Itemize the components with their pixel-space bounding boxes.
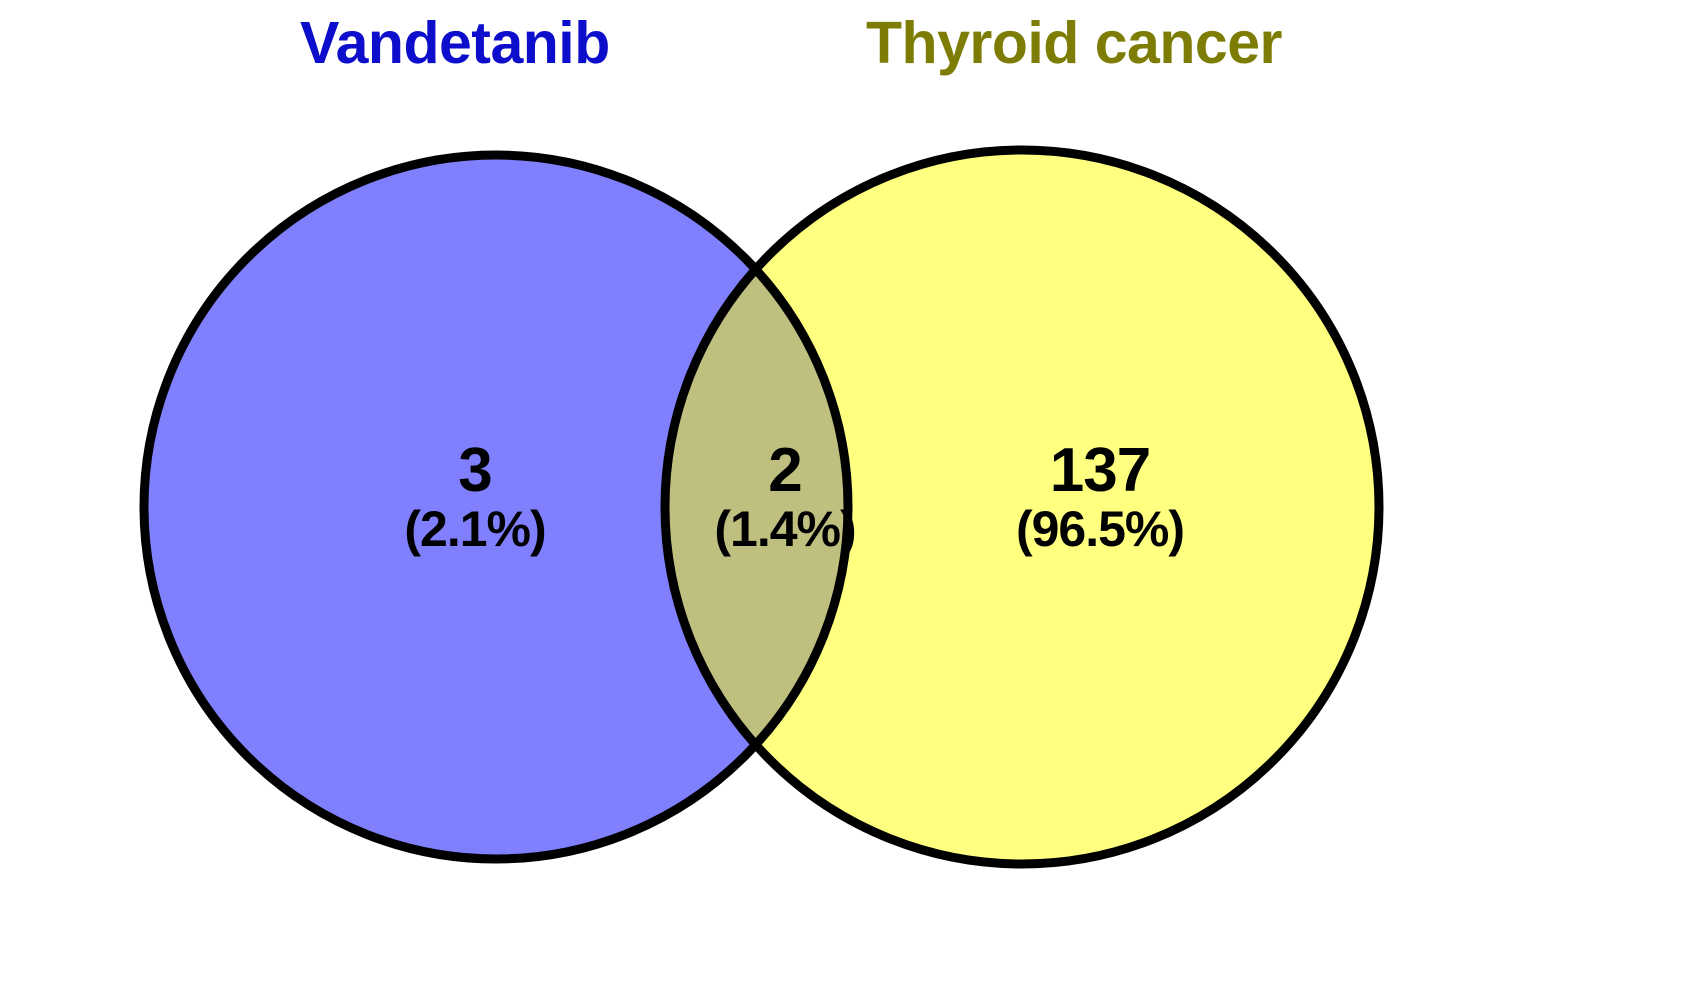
venn-canvas (0, 0, 1695, 984)
venn-diagram-figure: Vandetanib Thyroid cancer 3 (2.1%) 2 (1.… (0, 0, 1695, 984)
